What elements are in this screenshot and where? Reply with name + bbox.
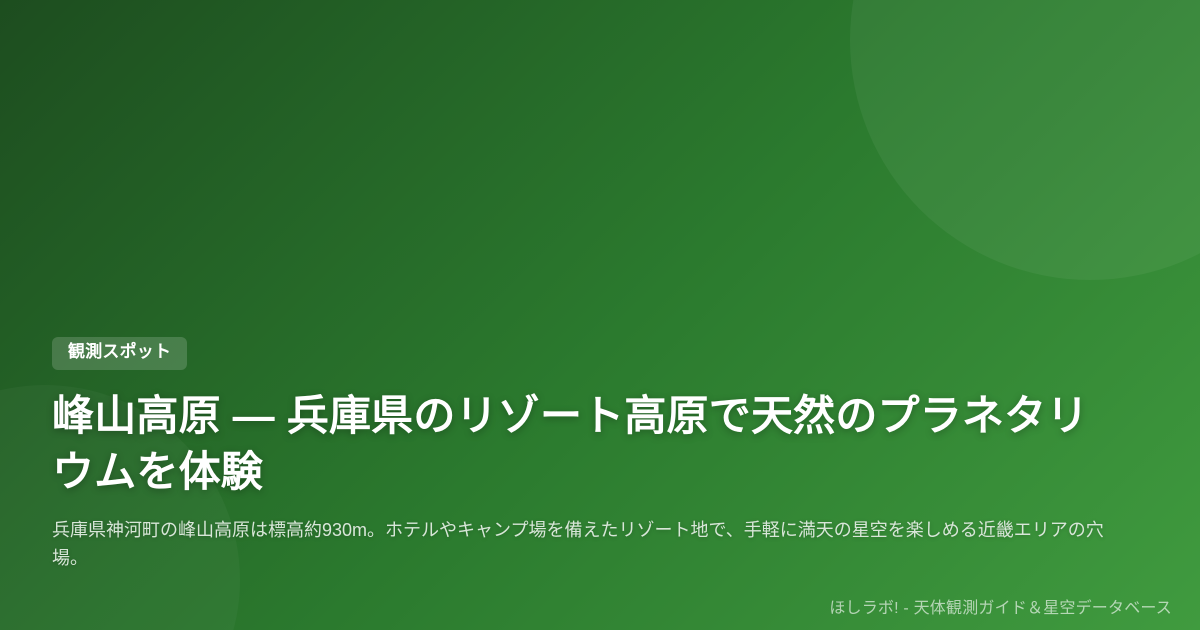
card-content: 観測スポット 峰山高原 — 兵庫県のリゾート高原で天然のプラネタリウムを体験 兵… bbox=[52, 337, 1140, 572]
decorative-circle-top-right bbox=[850, 0, 1200, 280]
page-description: 兵庫県神河町の峰山高原は標高約930m。ホテルやキャンプ場を備えたリゾート地で、… bbox=[52, 516, 1130, 572]
page-title: 峰山高原 — 兵庫県のリゾート高原で天然のプラネタリウムを体験 bbox=[52, 388, 1127, 500]
og-card: 観測スポット 峰山高原 — 兵庫県のリゾート高原で天然のプラネタリウムを体験 兵… bbox=[0, 0, 1200, 630]
site-branding-footer: ほしラボ! - 天体観測ガイド＆星空データベース bbox=[829, 598, 1172, 620]
category-badge: 観測スポット bbox=[52, 337, 187, 370]
